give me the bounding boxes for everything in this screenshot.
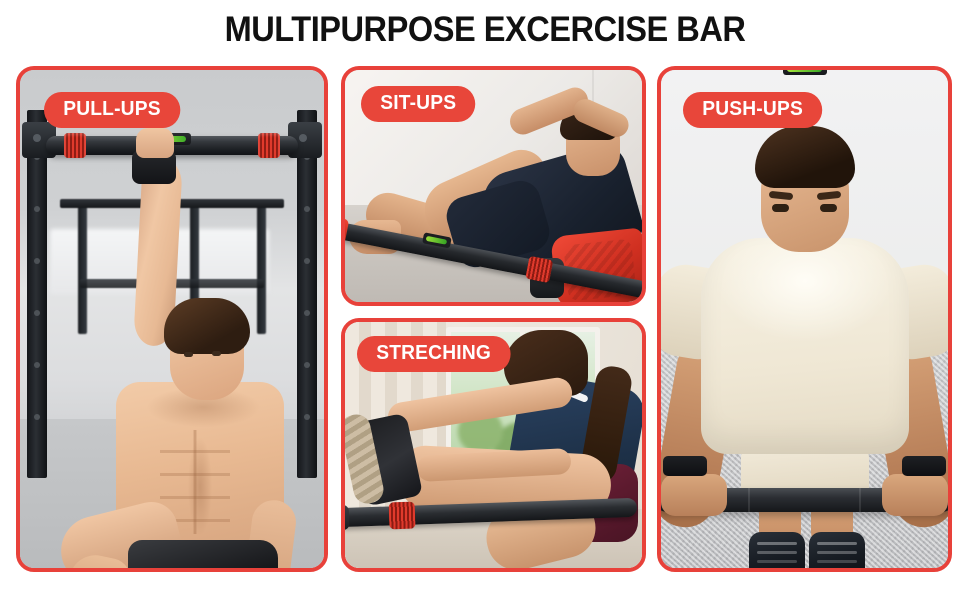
bar-grip-collar-right xyxy=(258,133,280,158)
athlete-eye xyxy=(184,352,193,357)
athlete-shoe xyxy=(809,532,865,568)
athlete-tshirt xyxy=(701,238,909,454)
athlete-hair xyxy=(755,126,855,188)
athlete-shorts xyxy=(128,540,278,568)
wrist-band xyxy=(902,456,946,476)
badge-sit-ups: SIT-UPS xyxy=(361,86,475,122)
athlete-hand xyxy=(136,128,174,158)
panel-pull-ups: PULL-UPS xyxy=(16,66,328,572)
badge-push-ups: PUSH-UPS xyxy=(683,92,822,128)
rack-post-left xyxy=(27,110,47,479)
push-ups-photo xyxy=(661,70,948,568)
bar-end-cap xyxy=(345,505,350,531)
panel-sit-ups: SIT-UPS xyxy=(341,66,646,306)
badge-streching: STRECHING xyxy=(357,336,510,372)
rack-post-right xyxy=(297,110,317,479)
product-infographic-poster: MULTIPURPOSE EXCERCISE BAR xyxy=(0,0,970,600)
badge-pull-ups: PULL-UPS xyxy=(44,92,180,128)
athlete-eye xyxy=(820,204,837,212)
panel-streching: STRECHING xyxy=(341,318,646,572)
rack-upright xyxy=(78,204,87,333)
athlete-eye xyxy=(212,351,221,356)
page-title: MULTIPURPOSE EXCERCISE BAR xyxy=(34,10,936,50)
athlete-eye xyxy=(772,204,789,212)
panel-push-ups: PUSH-UPS xyxy=(657,66,952,572)
athlete-shoe xyxy=(749,532,805,568)
athlete-hand xyxy=(661,474,727,516)
wrist-band xyxy=(663,456,707,476)
bar-grip-collar-left xyxy=(64,133,86,158)
bar-seam xyxy=(859,488,861,512)
bubble-level-icon xyxy=(783,70,827,75)
bar-grip-collar xyxy=(525,256,553,283)
bar-seam xyxy=(748,488,750,512)
pull-ups-photo xyxy=(20,70,324,568)
athlete-hair xyxy=(164,298,250,354)
athlete-hand xyxy=(882,474,948,516)
rack-upright xyxy=(257,204,266,333)
bar-grip-collar xyxy=(389,502,416,530)
